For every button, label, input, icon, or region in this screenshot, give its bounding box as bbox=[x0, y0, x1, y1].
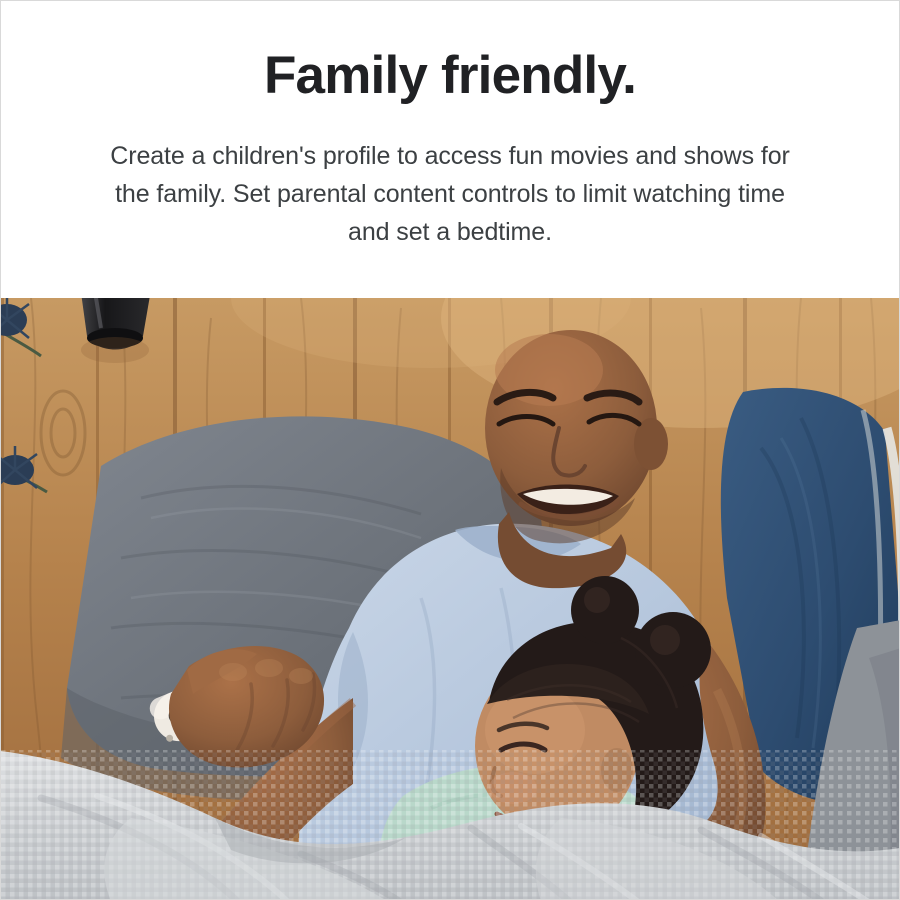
lifestyle-photo bbox=[1, 298, 900, 900]
waffle-blanket bbox=[1, 750, 900, 900]
description-text: Create a children's profile to access fu… bbox=[100, 107, 800, 251]
photo-illustration bbox=[1, 298, 900, 900]
page-title: Family friendly. bbox=[61, 1, 839, 107]
pendant-lamp-icon bbox=[79, 298, 153, 363]
text-panel: Family friendly. Create a children's pro… bbox=[1, 1, 899, 298]
promo-card: Family friendly. Create a children's pro… bbox=[0, 0, 900, 900]
